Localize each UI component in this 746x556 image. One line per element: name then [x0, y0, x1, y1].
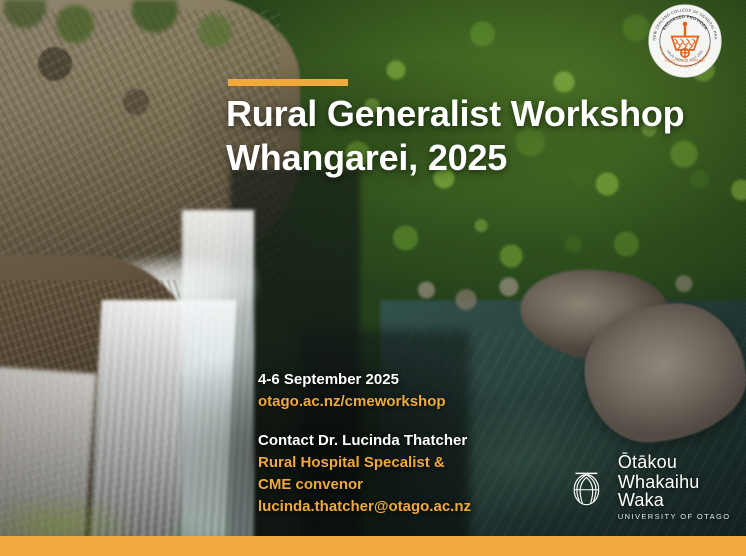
page-title: Rural Generalist Workshop Whangarei, 202…: [226, 92, 726, 180]
svg-text:SALUS POPULI SUPREMA: SALUS POPULI SUPREMA: [665, 59, 706, 63]
otago-koru-mark: [566, 462, 607, 512]
details-spacer: [258, 413, 588, 430]
title-line-1: Rural Generalist Workshop: [226, 92, 726, 136]
rnzcgp-endorsed-provider-seal: THE ROYAL NEW ZEALAND COLLEGE OF GENERAL…: [648, 4, 722, 78]
contact-name: Contact Dr. Lucinda Thatcher: [258, 430, 588, 452]
otago-english-name: UNIVERSITY OF OTAGO: [618, 513, 736, 521]
event-details: 4-6 September 2025 otago.ac.nz/cmeworksh…: [258, 369, 588, 518]
bottom-accent-bar: [0, 536, 746, 556]
contact-role-line-2: CME convenor: [258, 474, 588, 496]
event-website-link[interactable]: otago.ac.nz/cmeworkshop: [258, 391, 588, 413]
university-of-otago-logo: Ōtākou Whakaihu Waka UNIVERSITY OF OTAGO: [566, 461, 736, 513]
poster-canvas: Rural Generalist Workshop Whangarei, 202…: [0, 0, 746, 556]
title-accent-bar: [228, 79, 348, 86]
otago-maori-line-1: Ōtākou: [618, 453, 736, 471]
contact-role-line-1: Rural Hospital Specalist &: [258, 452, 588, 474]
event-dates: 4-6 September 2025: [258, 369, 588, 391]
otago-logo-text: Ōtākou Whakaihu Waka UNIVERSITY OF OTAGO: [618, 453, 736, 521]
contact-email-link[interactable]: lucinda.thatcher@otago.ac.nz: [258, 496, 588, 518]
otago-maori-line-2: Whakaihu Waka: [618, 473, 736, 509]
title-line-2: Whangarei, 2025: [226, 136, 726, 180]
